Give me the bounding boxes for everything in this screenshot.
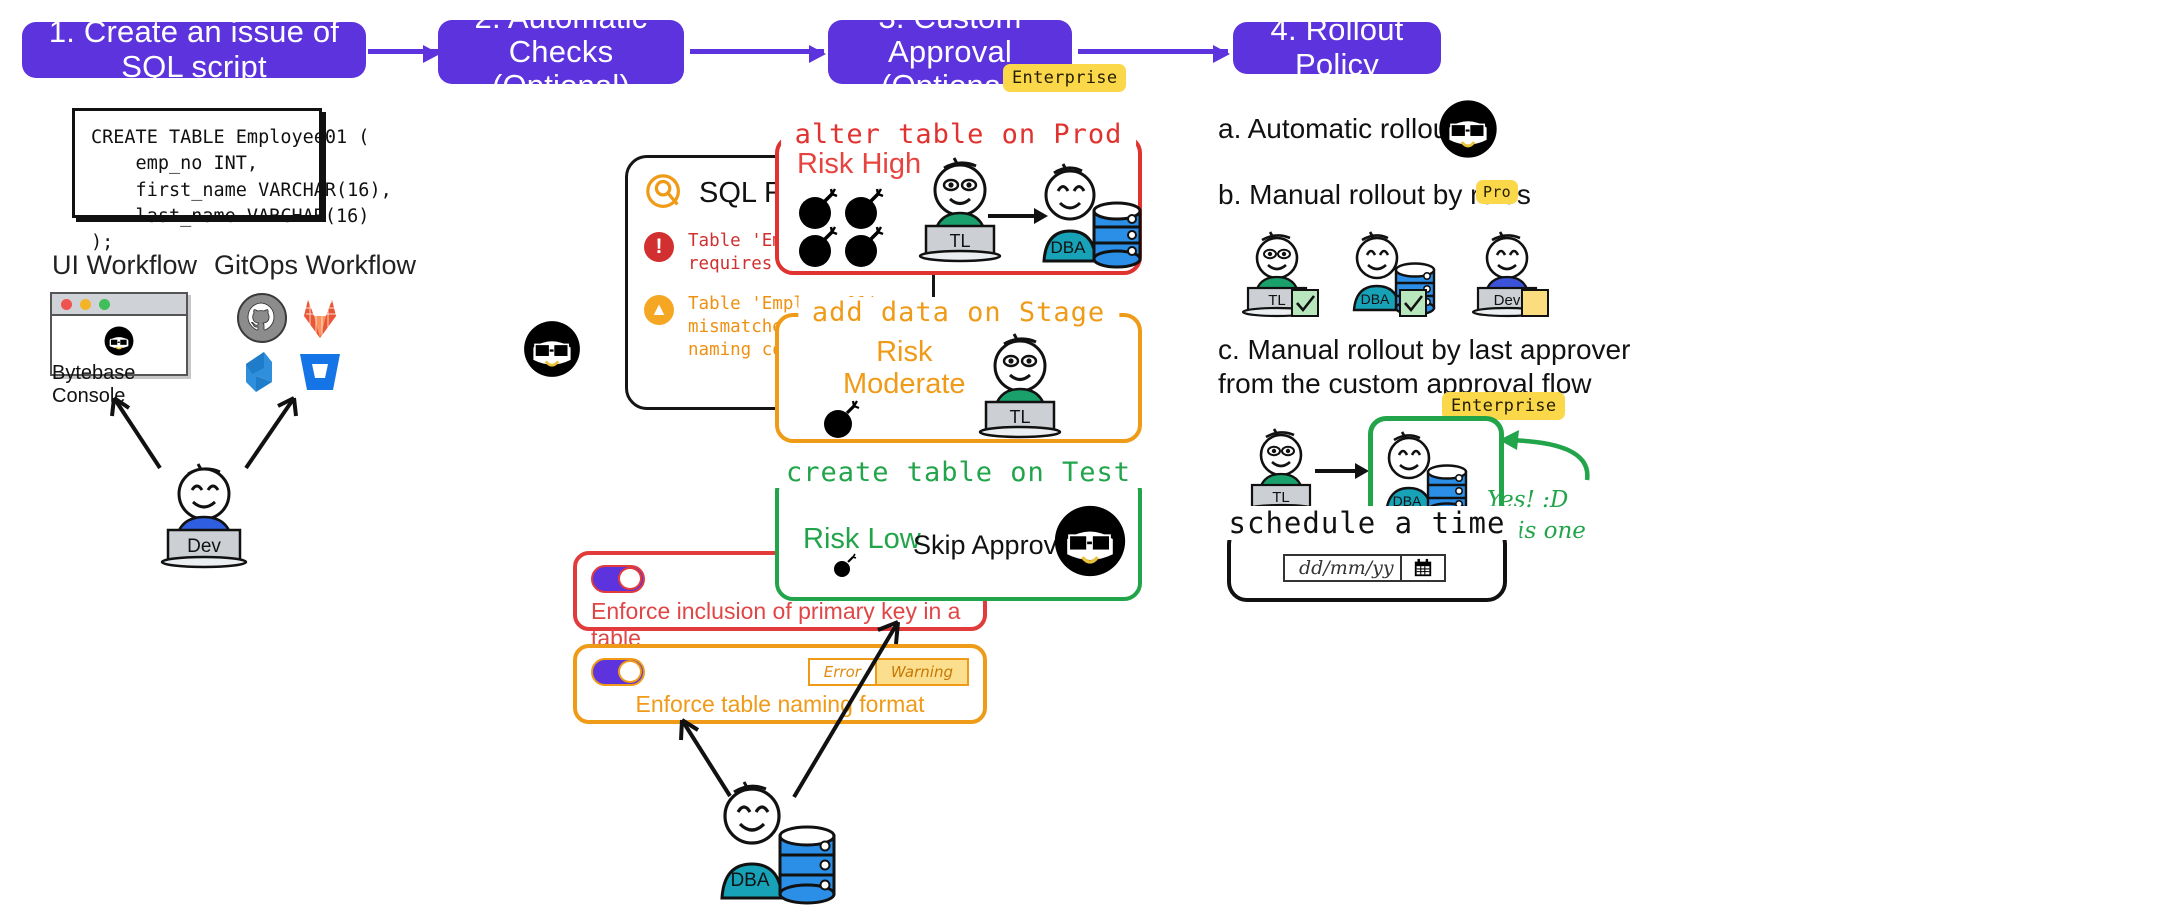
callout-arrow-green — [1487, 418, 1597, 488]
rollout-option-a: a. Automatic rollout — [1218, 112, 1456, 146]
check-badge-approved — [1292, 290, 1318, 316]
rule-table-naming[interactable]: Error Warning Enforce table naming forma… — [573, 644, 987, 724]
arrow-dev-to-ui-workflow — [100, 390, 170, 472]
step-banner-2[interactable]: 2. Automatic Checks (Optional) — [438, 20, 684, 84]
bytebase-console-window[interactable]: Bytebase Console — [50, 292, 188, 376]
avatar-icon — [102, 324, 136, 358]
tl-label: TL — [1272, 489, 1290, 506]
tl-approver-figure-stage: TL — [968, 328, 1073, 438]
schedule-card-title: schedule a time — [1215, 506, 1520, 540]
database-icon — [780, 827, 834, 903]
risk-level-moderate: Risk Moderate — [843, 336, 966, 401]
bomb-icon-group-high — [795, 185, 891, 270]
calendar-icon[interactable] — [1400, 556, 1444, 580]
dev-label: Dev — [1494, 292, 1521, 309]
step-banner-4[interactable]: 4. Rollout Policy — [1233, 22, 1441, 74]
connector-1-2 — [368, 49, 438, 54]
avatar-icon — [521, 318, 583, 380]
warning-icon: ▲ — [644, 295, 674, 325]
dev-actor-figure: Dev — [148, 458, 260, 568]
bitbucket-icon[interactable] — [296, 348, 344, 396]
gitops-workflow-label: GitOps Workflow — [214, 250, 416, 281]
role-dba-approved: DBA — [1346, 228, 1456, 318]
pending-badge — [1522, 290, 1548, 316]
risk-level-low: Risk Low — [803, 523, 921, 555]
arrow-tl-to-last-approver — [1315, 462, 1371, 480]
sql-script-code: CREATE TABLE Employee01 ( emp_no INT, fi… — [75, 111, 319, 270]
rollout-option-c: c. Manual rollout by last approver from … — [1218, 333, 1630, 400]
role-tl-approved: TL — [1232, 228, 1340, 318]
dev-actor-label: Dev — [187, 536, 221, 557]
step-4-title: 4. Rollout Policy — [1251, 13, 1423, 82]
tl-label: TL — [1009, 407, 1030, 427]
role-dev-pending: Dev — [1462, 228, 1570, 318]
bomb-icon-moderate — [822, 400, 866, 440]
approval-flow-test-title: create table on Test — [772, 457, 1145, 488]
ui-workflow-label: UI Workflow — [52, 250, 197, 281]
arrow-dev-to-gitops-workflow — [238, 390, 308, 472]
arrow-dba-to-primary-key-rule — [784, 612, 914, 802]
window-minimize-dot[interactable] — [80, 299, 91, 310]
dba-actor-label: DBA — [730, 870, 769, 891]
error-icon: ! — [644, 232, 674, 262]
risk-level-high: Risk High — [797, 148, 921, 180]
toggle-knob — [618, 660, 642, 683]
avatar-icon — [1052, 503, 1128, 579]
rollout-option-b-pro-badge: Pro — [1476, 180, 1518, 204]
github-icon[interactable] — [236, 292, 288, 344]
arrow-dba-to-naming-rule — [672, 710, 742, 800]
bomb-icon-low — [832, 553, 860, 579]
tl-label: TL — [1268, 292, 1286, 309]
avatar-icon — [1437, 98, 1499, 160]
dba-label: DBA — [1051, 238, 1087, 257]
schedule-date-input[interactable]: dd/mm/yy — [1283, 554, 1446, 582]
dba-approver-figure-prod: DBA — [1036, 155, 1148, 267]
connector-3-4 — [1078, 49, 1228, 54]
connector-2-3 — [690, 49, 824, 54]
approval-flow-prod-title: alter table on Prod — [781, 119, 1137, 150]
tl-label: TL — [949, 231, 970, 251]
gitlab-icon[interactable] — [296, 294, 344, 342]
check-badge-approved — [1400, 290, 1426, 316]
schedule-date-value[interactable]: dd/mm/yy — [1285, 557, 1400, 579]
window-maximize-dot[interactable] — [99, 299, 110, 310]
step-1-title: 1. Create an issue of SQL script — [40, 15, 348, 84]
azure-devops-icon[interactable] — [238, 348, 286, 396]
step-3-enterprise-badge: Enterprise — [1003, 64, 1126, 92]
rule-table-naming-toggle[interactable] — [591, 658, 645, 686]
toggle-knob — [618, 567, 642, 590]
magnifier-icon — [644, 172, 686, 214]
step-banner-1[interactable]: 1. Create an issue of SQL script — [22, 22, 366, 78]
browser-titlebar — [52, 294, 186, 316]
rule-primary-key-toggle[interactable] — [591, 565, 645, 593]
window-close-dot[interactable] — [61, 299, 72, 310]
approval-flow-stage-title: add data on Stage — [798, 297, 1119, 328]
database-icon — [1094, 203, 1140, 267]
dba-label: DBA — [1361, 291, 1390, 307]
step-2-title: 2. Automatic Checks (Optional) — [456, 1, 666, 103]
sql-script-card: CREATE TABLE Employee01 ( emp_no INT, fi… — [72, 108, 322, 218]
